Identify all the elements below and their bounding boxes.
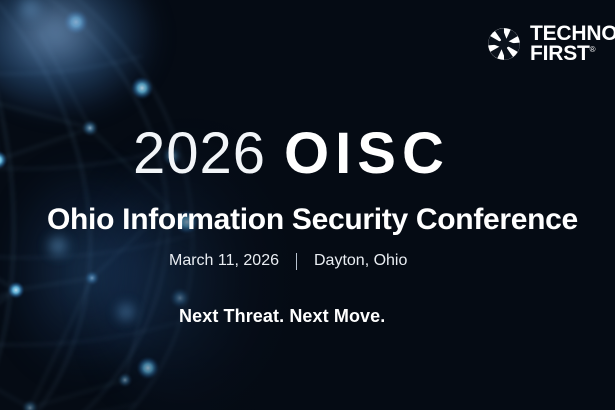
art-bloom-lower <box>95 150 285 410</box>
logo-wordmark: TECHNO FIRST® <box>530 24 615 64</box>
event-location: Dayton, Ohio <box>314 252 407 270</box>
meta-separator <box>296 253 297 270</box>
technology-first-logo[interactable]: TECHNO FIRST® <box>487 24 615 64</box>
event-meta: March 11, 2026 Dayton, Ohio <box>169 252 407 270</box>
aperture-shutter-icon <box>487 27 521 61</box>
registered-trademark-symbol: ® <box>590 45 596 54</box>
logo-word-first: FIRST <box>530 42 590 65</box>
art-bloom-mid <box>10 170 160 370</box>
event-acronym: OISC <box>284 121 450 186</box>
logo-word-line1: TECHNO <box>530 24 615 44</box>
event-year: 2026 <box>133 121 266 186</box>
event-tagline: Next Threat. Next Move. <box>179 306 385 327</box>
conference-full-name: Ohio Information Security Conference <box>47 203 578 237</box>
conference-banner: TECHNO FIRST® 2026OISC Ohio Information … <box>0 0 615 410</box>
art-bloom-top <box>0 0 160 118</box>
logo-word-line2: FIRST® <box>530 44 615 64</box>
event-date: March 11, 2026 <box>169 252 279 270</box>
event-headline: 2026OISC <box>133 120 450 187</box>
